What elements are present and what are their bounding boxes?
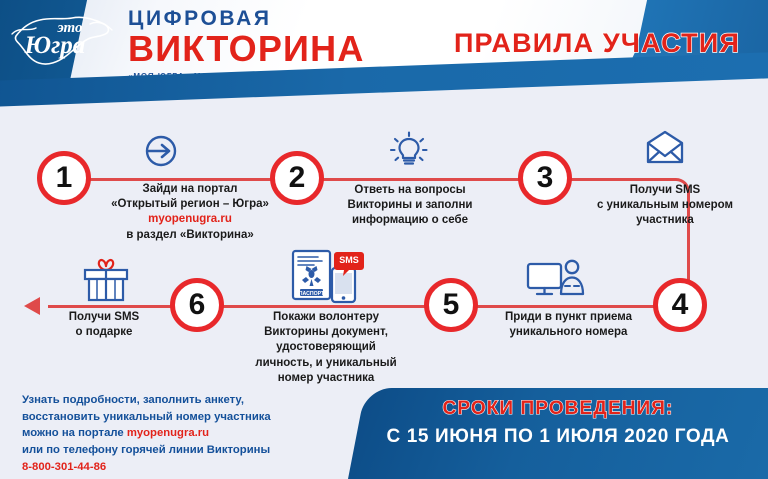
step-2-line-1: Ответь на вопросы [336,183,484,198]
logo-yugra-text: Югра [24,32,86,59]
yugra-logo: это Югра [8,6,116,80]
login-arrow-icon [143,133,179,174]
step-1-line-2: «Открытый регион – Югра» [100,197,280,212]
step-5-line-4: личность, и уникальный [237,356,415,371]
footer-info-line-2: восстановить уникальный номер участника [22,409,372,426]
footer-portal-url[interactable]: myopenugra.ru [127,427,209,439]
footer-info-line-1: Узнать подробности, заполнить анкету, [22,392,372,409]
dates-text-block: СРОКИ ПРОВЕДЕНИЯ: С 15 ИЮНЯ ПО 1 ИЮЛЯ 20… [358,398,758,448]
step-6-line-2: о подарке [42,325,166,340]
gift-icon [80,255,132,308]
desk-computer-person-icon [525,258,591,309]
step-5-line-3: удостоверяющий [237,340,415,355]
step-5-line-1: Покажи волонтеру [237,310,415,325]
dates-value: С 15 ИЮНЯ ПО 1 ИЮЛЯ 2020 ГОДА [358,426,758,448]
yugra-map-icon: это Югра [8,6,116,80]
step-text-4: Приди в пункт приема уникального номера [486,310,651,340]
step-text-1: Зайди на портал «Открытый регион – Югра»… [100,182,280,243]
step-circle-5[interactable]: 5 [424,278,478,332]
step-1-line-3: в раздел «Викторина» [100,228,280,243]
step-text-6: Получи SMS о подарке [42,310,166,340]
step-circle-2[interactable]: 2 [270,151,324,205]
step-circle-6[interactable]: 6 [170,278,224,332]
infographic-poster: это Югра ЦИФРОВАЯ ВИКТОРИНА «МОЯ ЮГРА . … [0,0,768,479]
title-digital: ЦИФРОВАЯ [128,8,528,29]
step-2-line-3: информацию о себе [336,213,484,228]
step-circle-4[interactable]: 4 [653,278,707,332]
step-1-line-1: Зайди на портал [100,182,280,197]
step-5-line-5: номер участника [237,371,415,386]
dates-label: СРОКИ ПРОВЕДЕНИЯ: [358,398,758,420]
footer-hotline-phone[interactable]: 8-800-301-44-86 [22,459,372,476]
footer-info-line-3: можно на портале myopenugra.ru [22,425,372,442]
footer-info-line-3-text: можно на портале [22,427,127,439]
lightbulb-icon [388,130,430,175]
passport-sms-icon: ПАСПОРТ SMS [288,248,366,311]
flow-arrow-head [24,297,40,315]
step-5-line-2: Викторины документ, [237,325,415,340]
step-1-url: myopenugra.ru [100,212,280,227]
svg-text:SMS: SMS [339,255,359,265]
footer-info-line-4: или по телефону горячей линии Викторины [22,442,372,459]
step-4-line-2: уникального номера [486,325,651,340]
svg-text:ПАСПОРТ: ПАСПОРТ [299,291,325,297]
step-3-line-1: Получи SMS [580,183,750,198]
footer-info-block: Узнать подробности, заполнить анкету, во… [22,392,372,476]
step-6-line-1: Получи SMS [42,310,166,325]
flow-line-bottom [48,305,688,308]
step-3-line-3: участника [580,213,750,228]
flow-line-top [62,178,672,181]
step-text-3: Получи SMS с уникальным номером участник… [580,183,750,229]
step-2-line-2: Викторины и заполни [336,198,484,213]
step-text-5: Покажи волонтеру Викторины документ, удо… [237,310,415,386]
step-3-line-2: с уникальным номером [580,198,750,213]
envelope-icon [643,130,687,173]
step-text-2: Ответь на вопросы Викторины и заполни ин… [336,183,484,229]
step-circle-1[interactable]: 1 [37,151,91,205]
step-4-line-1: Приди в пункт приема [486,310,651,325]
step-circle-3[interactable]: 3 [518,151,572,205]
